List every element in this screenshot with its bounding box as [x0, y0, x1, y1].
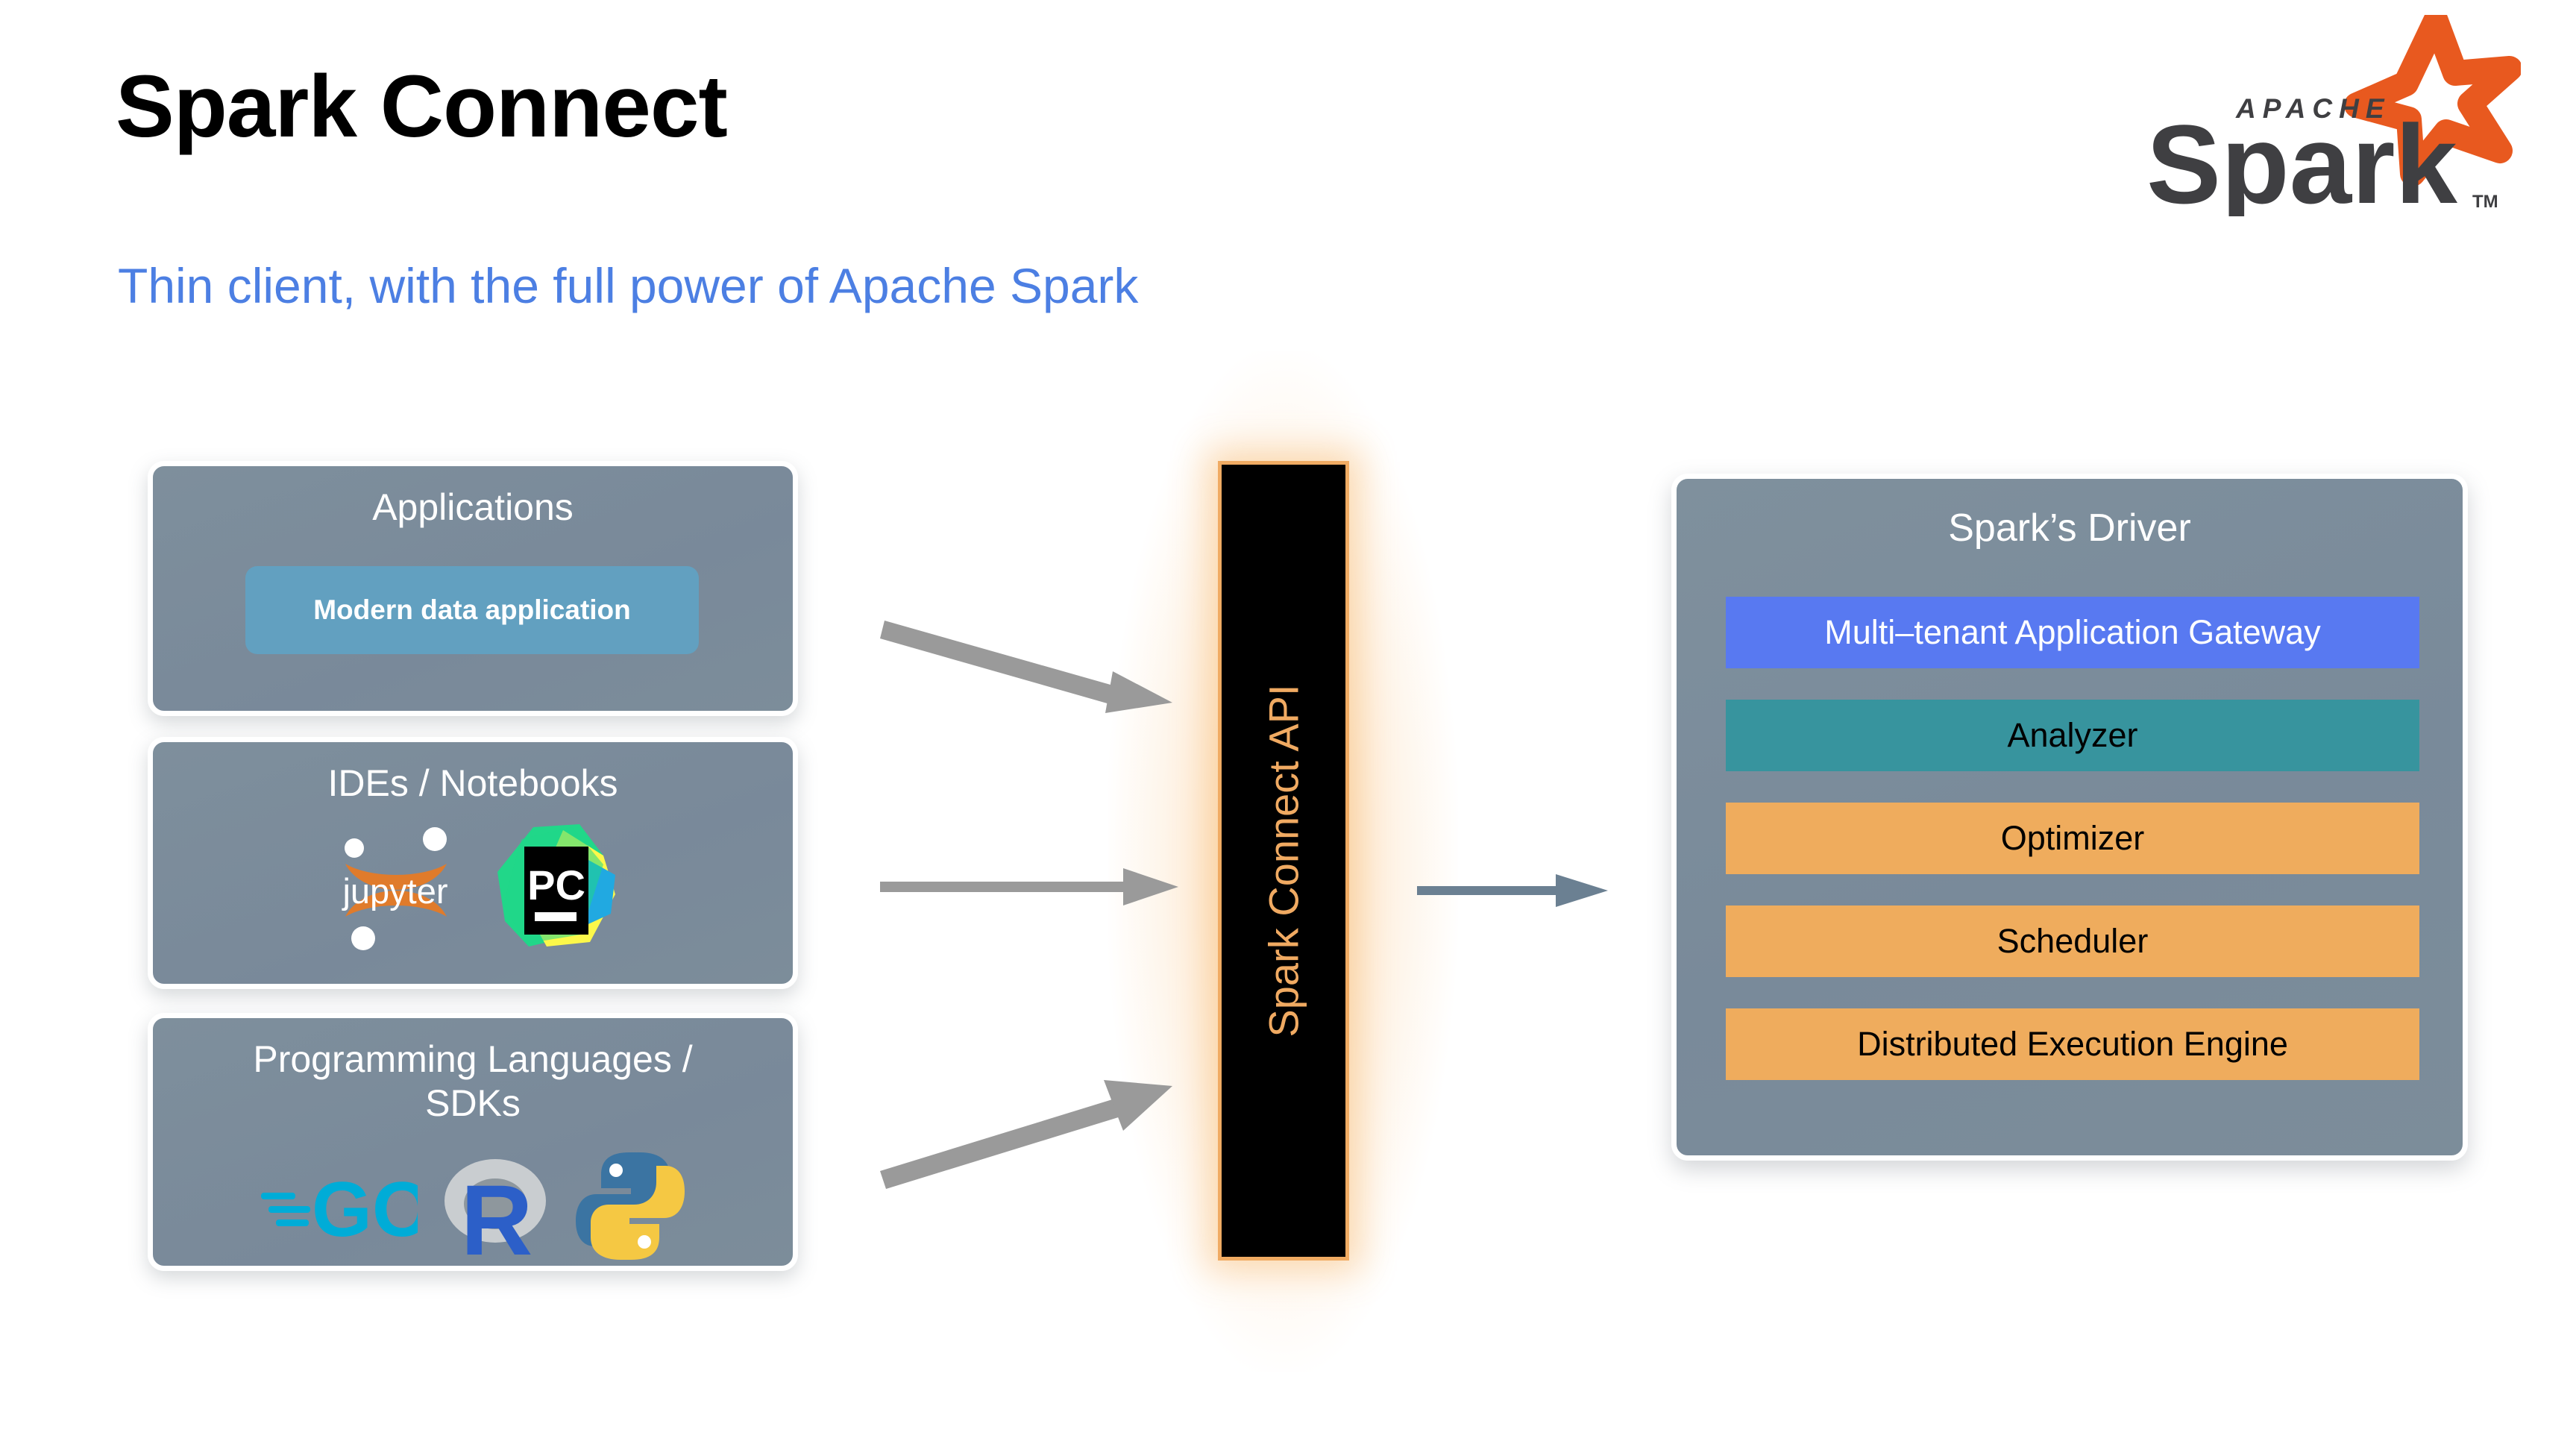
apache-spark-logo: APACHE Spark TM [2133, 15, 2521, 216]
driver-row-gateway[interactable]: Multi–tenant Application Gateway [1726, 597, 2419, 668]
language-icon-row: GO R [153, 1149, 793, 1263]
logo-trademark: TM [2472, 192, 2498, 212]
sparks-driver-panel[interactable]: Spark’s Driver Multi–tenant Application … [1671, 474, 2468, 1161]
go-icon: GO [260, 1161, 418, 1251]
sparks-driver-title: Spark’s Driver [1677, 479, 2463, 550]
modern-data-application-item[interactable]: Modern data application [245, 566, 699, 654]
pycharm-icon-svg: PC [491, 823, 620, 951]
ide-icon-row: jupyter PC [153, 823, 793, 951]
driver-component-list: Multi–tenant Application Gateway Analyze… [1726, 597, 2419, 1080]
python-icon [574, 1149, 686, 1263]
driver-row-optimizer[interactable]: Optimizer [1726, 803, 2419, 874]
arrow-applications-to-connect [880, 612, 1193, 716]
jupyter-icon: jupyter [326, 823, 465, 951]
pycharm-label: PC [527, 861, 585, 908]
client-box-languages-sdks[interactable]: Programming Languages / SDKs GO R [148, 1013, 798, 1271]
client-box-ides-notebooks[interactable]: IDEs / Notebooks jupyter [148, 737, 798, 989]
apache-spark-logo-svg: APACHE Spark TM [2133, 15, 2521, 216]
driver-row-analyzer[interactable]: Analyzer [1726, 700, 2419, 771]
jupyter-label: jupyter [341, 871, 447, 911]
driver-row-scheduler[interactable]: Scheduler [1726, 905, 2419, 977]
languages-title-line2: SDKs [153, 1082, 793, 1126]
slide-canvas: Spark Connect Thin client, with the full… [0, 0, 2576, 1447]
arrow-ides-to-connect [880, 850, 1193, 940]
jupyter-icon-svg: jupyter [326, 823, 465, 951]
python-icon-svg [574, 1149, 686, 1263]
ides-title: IDEs / Notebooks [153, 742, 793, 806]
go-label: GO [312, 1167, 418, 1251]
arrow-connect-to-driver [1417, 858, 1626, 932]
client-box-applications[interactable]: Applications Modern data application [148, 461, 798, 716]
page-title: Spark Connect [116, 56, 727, 157]
applications-title: Applications [153, 466, 793, 530]
languages-title-line1: Programming Languages / [153, 1038, 793, 1082]
page-subtitle: Thin client, with the full power of Apac… [118, 257, 1138, 314]
go-icon-svg: GO [260, 1161, 418, 1251]
r-icon: R [433, 1150, 559, 1262]
r-label: R [461, 1165, 533, 1262]
spark-connect-api-label: Spark Connect API [1260, 684, 1308, 1037]
arrow-languages-to-connect [880, 1044, 1193, 1178]
pycharm-icon: PC [491, 823, 620, 951]
languages-title: Programming Languages / SDKs [153, 1018, 793, 1126]
driver-row-execution-engine[interactable]: Distributed Execution Engine [1726, 1008, 2419, 1080]
logo-wordmark: Spark [2146, 101, 2457, 216]
r-icon-svg: R [433, 1150, 559, 1262]
spark-connect-api-bar[interactable]: Spark Connect API [1218, 461, 1349, 1261]
